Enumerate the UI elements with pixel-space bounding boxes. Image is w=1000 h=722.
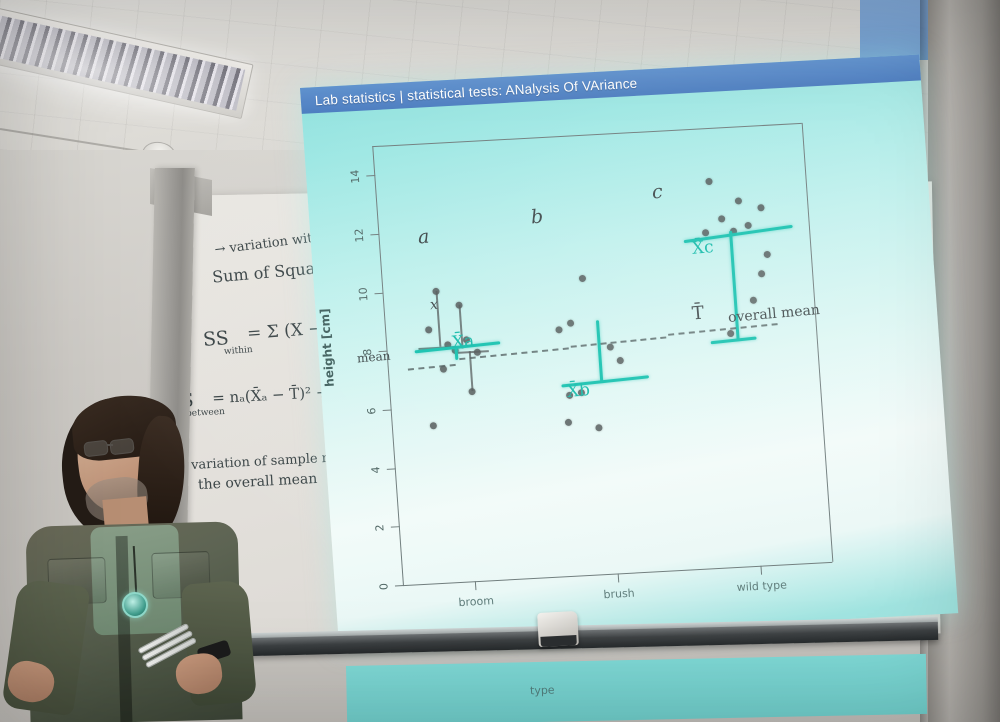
data-point (555, 326, 562, 333)
glasses-left-lens (83, 440, 109, 458)
y-tick-label: 2 (373, 518, 387, 537)
data-point-label-x: x (429, 297, 438, 314)
data-point (757, 204, 764, 211)
group-label-c: c (651, 181, 664, 204)
y-tick-label: 10 (356, 285, 370, 304)
overall-mean-symbol: T̄ (691, 303, 705, 325)
x-tick-label: broom (436, 593, 517, 610)
projected-slide: Lab statistics | statistical tests: ANal… (300, 54, 958, 646)
glasses-bridge (107, 444, 113, 446)
y-tick-label: 0 (377, 577, 391, 596)
lecture-room-photo: → variation within Samples Sum of Square… (0, 0, 1000, 722)
mean-symbol-b: X̄b (566, 380, 591, 402)
data-point (617, 357, 624, 364)
y-tick-label: 12 (352, 226, 366, 245)
handwriting-ss-within-subscript: within (224, 345, 253, 357)
data-point (718, 215, 725, 222)
data-point (750, 297, 757, 304)
data-point (567, 320, 574, 327)
y-tick-label: 14 (348, 167, 362, 186)
y-axis-label: height [cm] (317, 308, 336, 387)
group-label-b: b (530, 206, 544, 229)
overall-mean-dashed-line (668, 323, 778, 336)
pendant (122, 592, 148, 618)
plot-frame-right (802, 123, 834, 562)
projection-lower-label: type (530, 684, 555, 698)
x-tick-label: wild type (721, 578, 802, 595)
overall-mean-dashed-line (571, 336, 667, 347)
data-point (425, 326, 432, 333)
data-point (727, 330, 734, 337)
lecturer (0, 386, 300, 722)
data-point (764, 251, 771, 258)
group-label-a: a (417, 226, 430, 249)
mean-symbol-c: X̄c (691, 237, 714, 259)
group-mean-base-c (711, 336, 757, 344)
data-point (735, 197, 742, 204)
y-tick-label: 6 (365, 402, 379, 421)
data-point (702, 229, 709, 236)
x-tick-label: brush (579, 585, 660, 602)
group-mean-stem-b (596, 320, 604, 382)
data-point (607, 343, 614, 350)
y-tick-label: 4 (369, 461, 383, 480)
whiteboard-eraser (537, 611, 579, 647)
data-point (705, 178, 712, 185)
data-point (565, 419, 572, 426)
data-point (758, 270, 765, 277)
data-point (579, 275, 586, 282)
plot-frame-top (372, 123, 802, 148)
mean-annotation-label: mean (356, 349, 390, 366)
mean-symbol-a: X̄a (451, 331, 475, 353)
overall-mean-dashed-line (408, 364, 456, 371)
glasses-right-lens (109, 438, 135, 456)
data-point (430, 422, 437, 429)
data-point (595, 424, 602, 431)
data-point (744, 222, 751, 229)
projection-lower-strip (346, 654, 927, 722)
